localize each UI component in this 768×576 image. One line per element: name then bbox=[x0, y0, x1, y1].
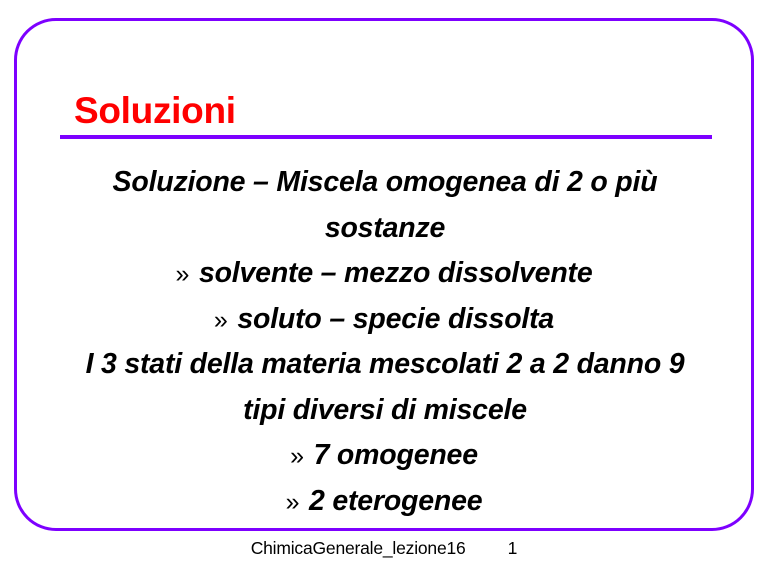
body-line: » soluto – specie dissolta bbox=[34, 297, 734, 343]
body-line: sostanze bbox=[34, 206, 734, 252]
body-line-text: soluto – specie dissolta bbox=[237, 303, 554, 335]
body-line: tipi diversi di miscele bbox=[34, 388, 734, 434]
body-line-text: Soluzione – Miscela omogenea di 2 o più bbox=[113, 166, 658, 198]
body-line-text: 7 omogenee bbox=[314, 439, 478, 471]
bullet-marker-icon: » bbox=[290, 442, 306, 470]
body-line: » solvente – mezzo dissolvente bbox=[34, 251, 734, 297]
page-title: Soluzioni bbox=[60, 92, 712, 129]
body-line-text: 2 eterogenee bbox=[309, 485, 482, 517]
title-underline-rule bbox=[60, 135, 712, 139]
bullet-marker-icon: » bbox=[214, 306, 230, 334]
footer-document-name: ChimicaGenerale_lezione16 bbox=[251, 538, 466, 559]
body-line: Soluzione – Miscela omogenea di 2 o più bbox=[34, 160, 734, 206]
body-line: » 7 omogenee bbox=[34, 433, 734, 479]
body-line-text: sostanze bbox=[325, 212, 445, 244]
slide-body-content: Soluzione – Miscela omogenea di 2 o più … bbox=[34, 160, 734, 524]
slide-footer: ChimicaGenerale_lezione16 1 bbox=[0, 538, 768, 559]
body-line-text: I 3 stati della materia mescolati 2 a 2 … bbox=[86, 348, 685, 380]
body-line-text: tipi diversi di miscele bbox=[243, 394, 527, 426]
footer-page-number: 1 bbox=[508, 538, 518, 559]
body-line: » 2 eterogenee bbox=[34, 479, 734, 525]
slide-title-block: Soluzioni bbox=[60, 92, 712, 139]
bullet-marker-icon: » bbox=[176, 260, 192, 288]
bullet-marker-icon: » bbox=[286, 488, 302, 516]
presentation-slide: Soluzioni Soluzione – Miscela omogenea d… bbox=[0, 0, 768, 576]
body-line-text: solvente – mezzo dissolvente bbox=[199, 257, 593, 289]
body-line: I 3 stati della materia mescolati 2 a 2 … bbox=[34, 342, 734, 388]
